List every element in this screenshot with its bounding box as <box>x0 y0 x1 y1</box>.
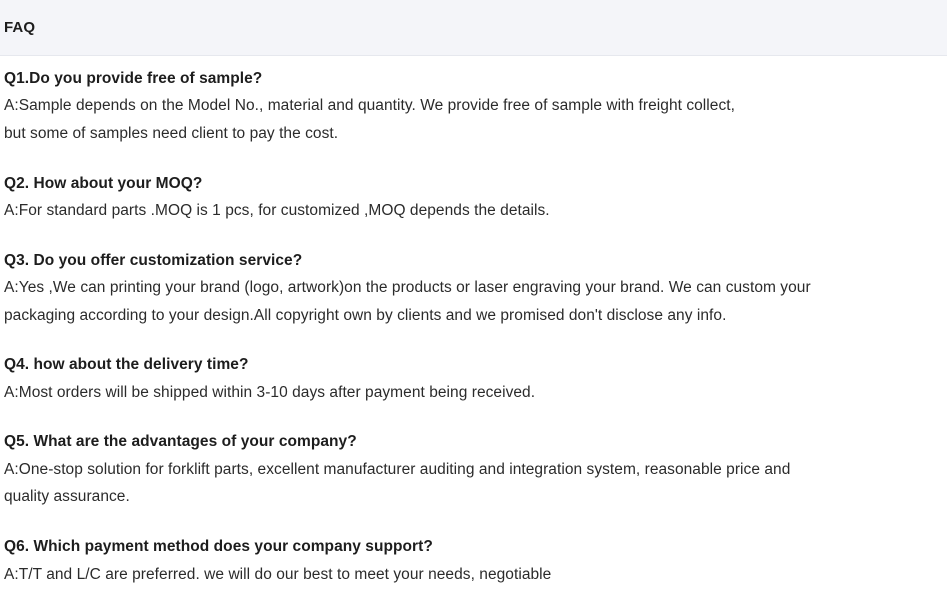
faq-question: Q1.Do you provide free of sample? <box>4 67 943 91</box>
faq-answer: A:Yes ,We can printing your brand (logo,… <box>4 274 943 329</box>
faq-header-title: FAQ <box>4 20 35 35</box>
faq-answer: A:One-stop solution for forklift parts, … <box>4 456 943 511</box>
faq-item: Q5. What are the advantages of your comp… <box>4 430 943 511</box>
faq-header: FAQ <box>0 0 947 56</box>
faq-list: Q1.Do you provide free of sample? A:Samp… <box>0 56 947 592</box>
faq-panel: FAQ Q1.Do you provide free of sample? A:… <box>0 0 947 592</box>
faq-item: Q3. Do you offer customization service? … <box>4 249 943 330</box>
faq-question: Q4. how about the delivery time? <box>4 353 943 377</box>
faq-question: Q5. What are the advantages of your comp… <box>4 430 943 454</box>
faq-answer: A:For standard parts .MOQ is 1 pcs, for … <box>4 197 943 225</box>
faq-question: Q3. Do you offer customization service? <box>4 249 943 273</box>
faq-item: Q1.Do you provide free of sample? A:Samp… <box>4 67 943 148</box>
faq-question: Q2. How about your MOQ? <box>4 172 943 196</box>
faq-answer: A:T/T and L/C are preferred. we will do … <box>4 561 943 589</box>
faq-question: Q6. Which payment method does your compa… <box>4 535 943 559</box>
faq-answer: A:Most orders will be shipped within 3-1… <box>4 379 943 407</box>
faq-item: Q4. how about the delivery time? A:Most … <box>4 353 943 406</box>
faq-item: Q6. Which payment method does your compa… <box>4 535 943 588</box>
faq-answer: A:Sample depends on the Model No., mater… <box>4 92 943 147</box>
faq-item: Q2. How about your MOQ? A:For standard p… <box>4 172 943 225</box>
